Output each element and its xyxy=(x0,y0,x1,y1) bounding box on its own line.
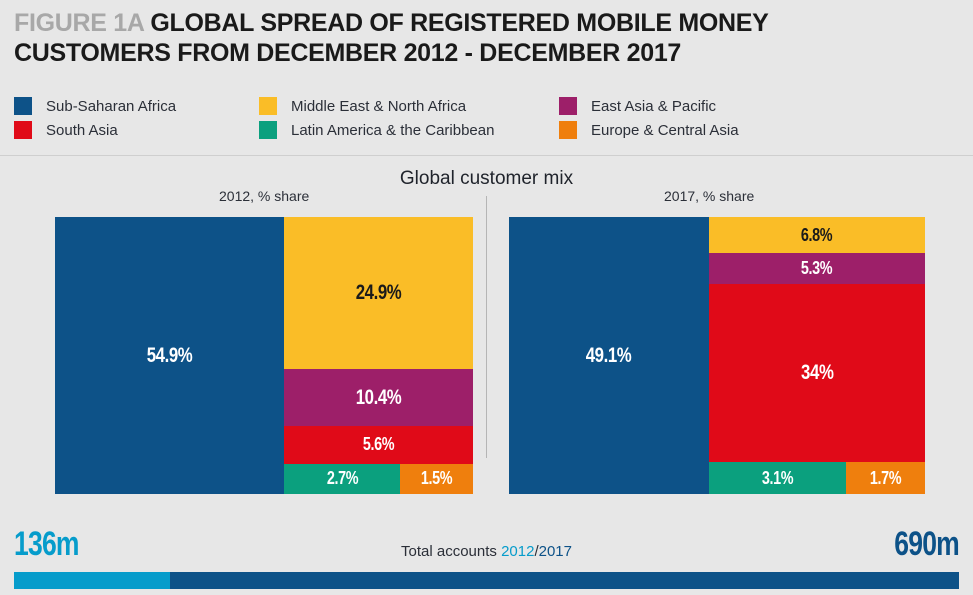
segment-value-label: 24.9% xyxy=(356,281,402,305)
segment-value-label: 10.4% xyxy=(356,386,402,410)
caption-year-2012: 2012 xyxy=(501,543,534,560)
legend-swatch-icon xyxy=(259,97,277,115)
totals-footer: 136m 690m Total accounts 2012/2017 xyxy=(0,510,973,595)
mosaic-segment-latin-america-caribbean[interactable]: 3.1% xyxy=(709,462,846,494)
title-line-2: CUSTOMERS FROM DECEMBER 2012 - DECEMBER … xyxy=(14,38,954,68)
caption-year-2017: 2017 xyxy=(539,543,572,560)
mosaic-segment-middle-east-north-africa[interactable]: 24.9% xyxy=(284,217,473,369)
mosaic-segment-east-asia-pacific[interactable]: 5.3% xyxy=(709,253,925,284)
mosaic-chart-2017: 49.1%6.8%5.3%34%3.1%1.7% xyxy=(509,217,925,494)
panel-title: Global customer mix xyxy=(0,168,973,190)
legend-swatch-icon xyxy=(14,97,32,115)
title-text-1: GLOBAL SPREAD OF REGISTERED MOBILE MONEY xyxy=(150,9,768,37)
legend-item[interactable]: Sub-Saharan Africa xyxy=(14,94,259,118)
legend-swatch-icon xyxy=(14,121,32,139)
segment-value-label: 5.3% xyxy=(801,258,832,279)
caption-prefix: Total accounts xyxy=(401,543,501,560)
mosaic-segment-sub-saharan-africa[interactable]: 49.1% xyxy=(509,217,709,494)
mosaic-chart-2012: 54.9%24.9%10.4%5.6%2.7%1.5% xyxy=(55,217,473,494)
segment-value-label: 1.7% xyxy=(870,468,901,489)
mosaic-segment-sub-saharan-africa[interactable]: 54.9% xyxy=(55,217,284,494)
legend-swatch-icon xyxy=(559,121,577,139)
segment-value-label: 34% xyxy=(801,361,833,385)
panel-divider xyxy=(486,196,487,458)
figure-label: FIGURE 1A xyxy=(14,9,144,37)
totals-progress-bar xyxy=(14,572,959,589)
segment-value-label: 5.6% xyxy=(363,434,394,455)
legend-item-label: Sub-Saharan Africa xyxy=(46,98,176,115)
subtitle-2012: 2012, % share xyxy=(219,188,309,204)
legend-item-label: Middle East & North Africa xyxy=(291,98,466,115)
mosaic-segment-middle-east-north-africa[interactable]: 6.8% xyxy=(709,217,925,253)
mosaic-segment-europe-central-asia[interactable]: 1.5% xyxy=(400,464,473,494)
mosaic-segment-latin-america-caribbean[interactable]: 2.7% xyxy=(284,464,399,494)
legend-item[interactable]: South Asia xyxy=(14,118,259,142)
legend-item-label: Europe & Central Asia xyxy=(591,122,739,139)
totals-progress-fill-2012 xyxy=(14,572,170,589)
segment-value-label: 3.1% xyxy=(762,468,793,489)
legend-item-label: Latin America & the Caribbean xyxy=(291,122,494,139)
segment-value-label: 54.9% xyxy=(147,344,193,368)
page-title: FIGURE 1A GLOBAL SPREAD OF REGISTERED MO… xyxy=(14,8,954,68)
segment-value-label: 6.8% xyxy=(801,225,832,246)
segment-value-label: 1.5% xyxy=(421,468,452,489)
chart-panel: Global customer mix 2012, % share 2017, … xyxy=(0,155,973,511)
totals-caption: Total accounts 2012/2017 xyxy=(0,543,973,560)
legend-item-label: South Asia xyxy=(46,122,118,139)
legend-swatch-icon xyxy=(259,121,277,139)
segment-value-label: 2.7% xyxy=(327,468,358,489)
mosaic-segment-east-asia-pacific[interactable]: 10.4% xyxy=(284,369,473,426)
legend-item[interactable]: Europe & Central Asia xyxy=(559,118,959,142)
legend-swatch-icon xyxy=(559,97,577,115)
subtitle-2017: 2017, % share xyxy=(664,188,754,204)
mosaic-segment-europe-central-asia[interactable]: 1.7% xyxy=(846,462,925,494)
segment-value-label: 49.1% xyxy=(586,344,632,368)
mosaic-segment-south-asia[interactable]: 34% xyxy=(709,284,925,462)
title-line-1: FIGURE 1A GLOBAL SPREAD OF REGISTERED MO… xyxy=(14,8,954,38)
legend-item[interactable]: Middle East & North Africa xyxy=(259,94,559,118)
legend-item-label: East Asia & Pacific xyxy=(591,98,716,115)
legend-item[interactable]: East Asia & Pacific xyxy=(559,94,959,118)
chart-legend: Sub-Saharan AfricaMiddle East & North Af… xyxy=(14,94,959,142)
mosaic-segment-south-asia[interactable]: 5.6% xyxy=(284,426,473,463)
legend-item[interactable]: Latin America & the Caribbean xyxy=(259,118,559,142)
